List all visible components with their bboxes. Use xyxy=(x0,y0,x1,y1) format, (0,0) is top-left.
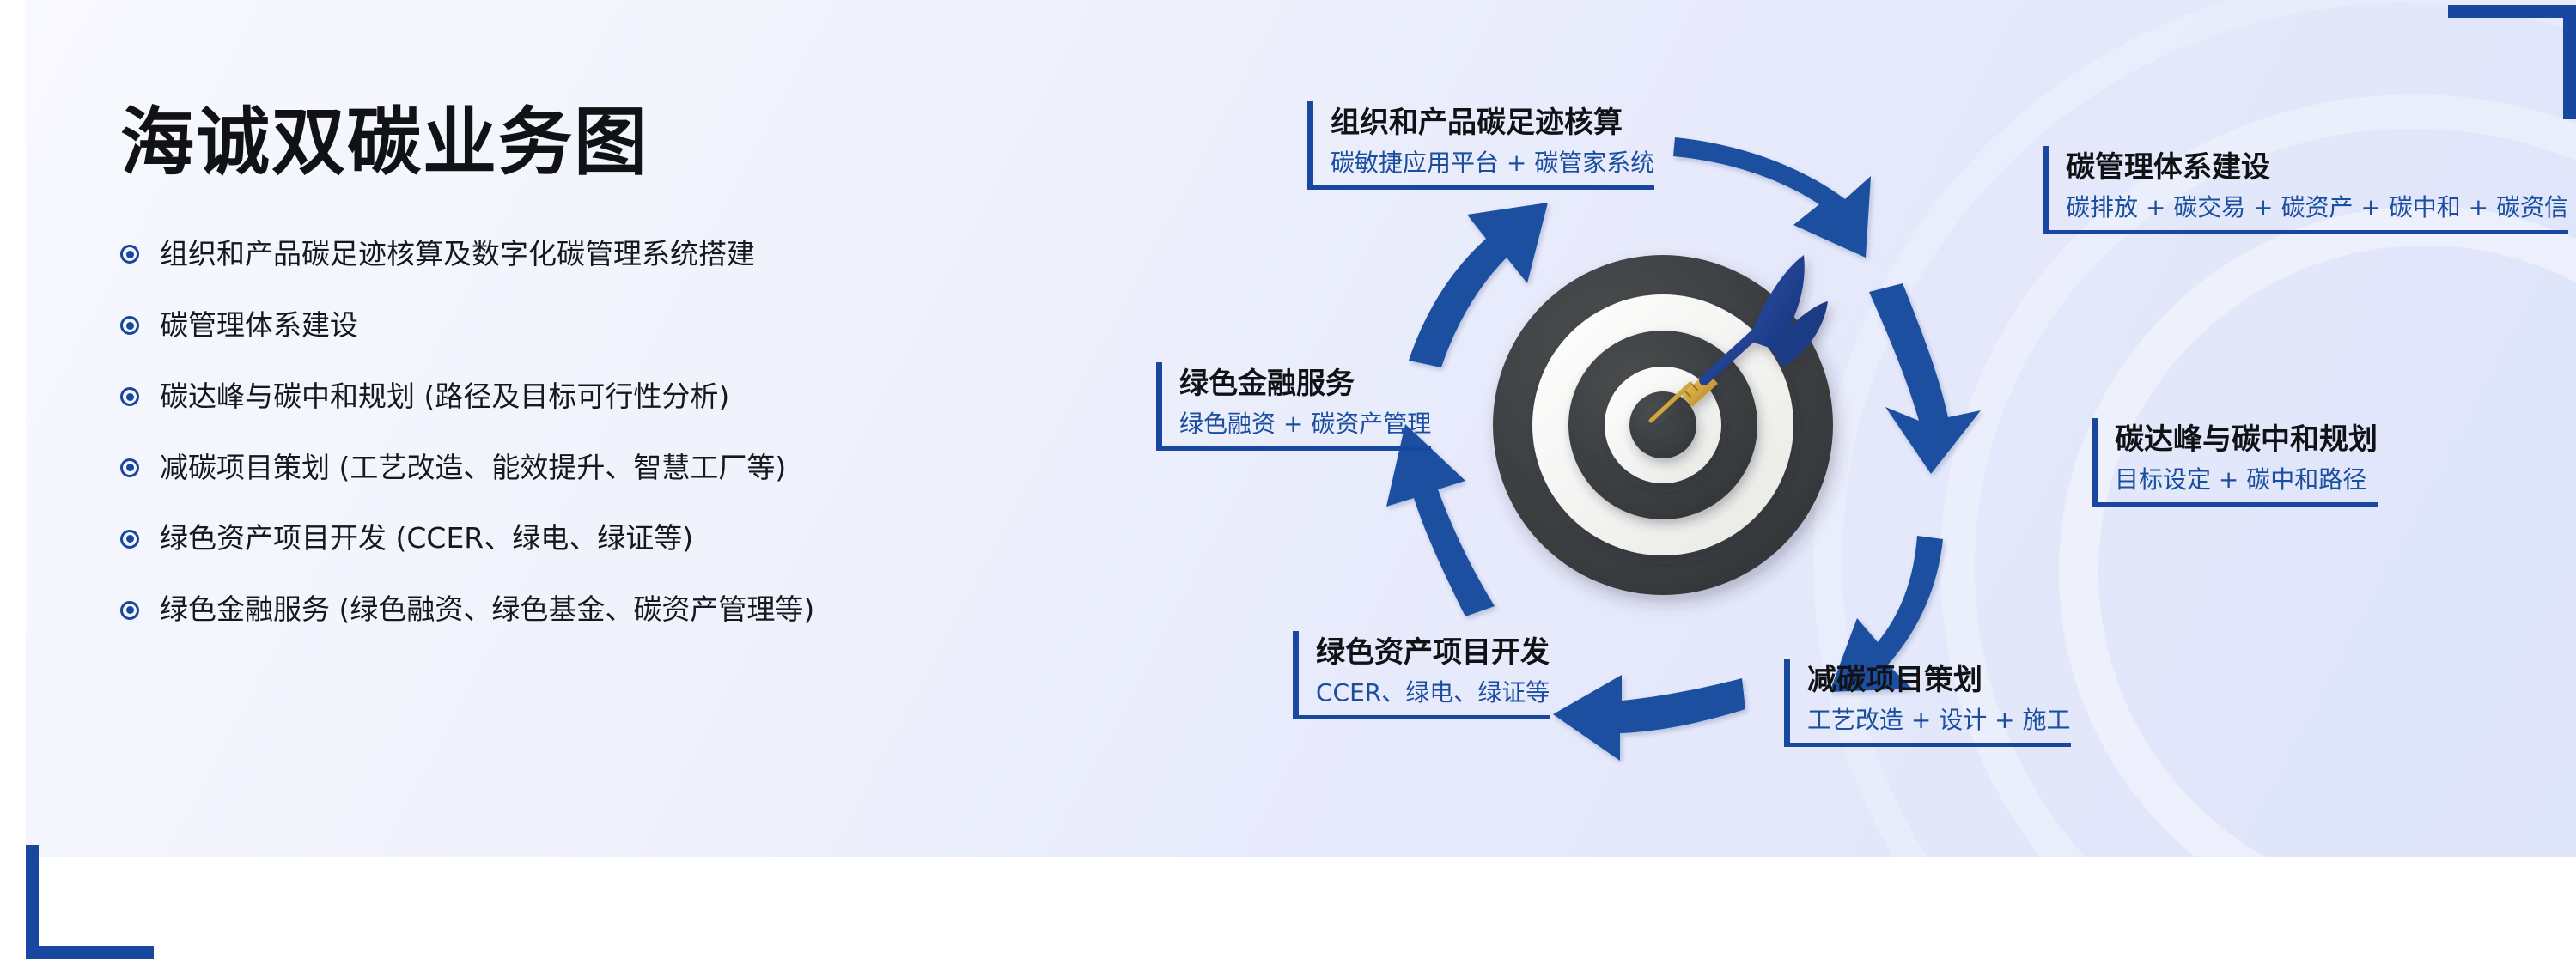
node-carbon-footprint[interactable]: 组织和产品碳足迹核算 碳敏捷应用平台 + 碳管家系统 xyxy=(1307,101,1654,190)
bullet-dot-icon xyxy=(120,387,139,406)
page-title: 海诚双碳业务图 xyxy=(120,103,1108,183)
node-title: 碳管理体系建设 xyxy=(2066,149,2568,186)
node-subtitle: 目标设定 + 碳中和路径 xyxy=(2115,464,2378,495)
bullet-dot-icon xyxy=(120,316,139,335)
node-title: 组织和产品碳足迹核算 xyxy=(1331,105,1654,142)
bullet-dot-icon xyxy=(120,245,139,264)
list-item-label: 绿色资产项目开发 (CCER、绿电、绿证等) xyxy=(160,520,693,557)
list-item: 组织和产品碳足迹核算及数字化碳管理系统搭建 xyxy=(120,236,1108,273)
corner-bracket-bottom-left xyxy=(26,845,154,959)
list-item: 减碳项目策划 (工艺改造、能效提升、智慧工厂等) xyxy=(120,450,1108,487)
node-title: 绿色金融服务 xyxy=(1179,366,1431,403)
list-item-label: 减碳项目策划 (工艺改造、能效提升、智慧工厂等) xyxy=(160,450,786,487)
bullet-dot-icon xyxy=(120,458,139,477)
node-subtitle: 绿色融资 + 碳资产管理 xyxy=(1179,409,1431,440)
list-item-label: 组织和产品碳足迹核算及数字化碳管理系统搭建 xyxy=(160,236,755,273)
node-peak-neutrality-planning[interactable]: 碳达峰与碳中和规划 目标设定 + 碳中和路径 xyxy=(2092,418,2378,507)
list-item: 绿色资产项目开发 (CCER、绿电、绿证等) xyxy=(120,520,1108,557)
list-item: 碳管理体系建设 xyxy=(120,307,1108,344)
service-bullet-list: 组织和产品碳足迹核算及数字化碳管理系统搭建 碳管理体系建设 碳达峰与碳中和规划 … xyxy=(120,236,1108,628)
node-green-finance-service[interactable]: 绿色金融服务 绿色融资 + 碳资产管理 xyxy=(1156,362,1431,451)
list-item-label: 碳达峰与碳中和规划 (路径及目标可行性分析) xyxy=(160,379,729,416)
node-carbon-management-system[interactable]: 碳管理体系建设 碳排放 + 碳交易 + 碳资产 + 碳中和 + 碳资信 xyxy=(2043,146,2568,234)
node-subtitle: 工艺改造 + 设计 + 施工 xyxy=(1807,705,2071,736)
left-content-panel: 海诚双碳业务图 组织和产品碳足迹核算及数字化碳管理系统搭建 碳管理体系建设 碳达… xyxy=(120,103,1108,628)
node-subtitle: CCER、绿电、绿证等 xyxy=(1316,677,1550,708)
node-title: 碳达峰与碳中和规划 xyxy=(2115,422,2378,458)
list-item: 绿色金融服务 (绿色融资、绿色基金、碳资产管理等) xyxy=(120,592,1108,628)
bullet-dot-icon xyxy=(120,530,139,549)
list-item-label: 碳管理体系建设 xyxy=(160,307,358,344)
arrow-system-to-planning-icon xyxy=(1869,283,1981,474)
node-emission-reduction-project[interactable]: 减碳项目策划 工艺改造 + 设计 + 施工 xyxy=(1784,659,2071,747)
cycle-diagram: 组织和产品碳足迹核算 碳敏捷应用平台 + 碳管家系统 碳管理体系建设 碳排放 +… xyxy=(1125,0,2576,857)
arrow-project-to-asset-icon xyxy=(1553,675,1745,761)
node-title: 减碳项目策划 xyxy=(1807,662,2071,699)
bullet-dot-icon xyxy=(120,601,139,620)
list-item: 碳达峰与碳中和规划 (路径及目标可行性分析) xyxy=(120,379,1108,416)
corner-bracket-top-right xyxy=(2448,5,2576,119)
node-title: 绿色资产项目开发 xyxy=(1316,634,1550,671)
node-green-asset-development[interactable]: 绿色资产项目开发 CCER、绿电、绿证等 xyxy=(1293,631,1550,719)
node-subtitle: 碳排放 + 碳交易 + 碳资产 + 碳中和 + 碳资信 xyxy=(2066,192,2568,223)
list-item-label: 绿色金融服务 (绿色融资、绿色基金、碳资产管理等) xyxy=(160,592,814,628)
dartboard-target-icon xyxy=(1460,219,1873,631)
infographic-card: 海诚双碳业务图 组织和产品碳足迹核算及数字化碳管理系统搭建 碳管理体系建设 碳达… xyxy=(26,0,2576,857)
node-subtitle: 碳敏捷应用平台 + 碳管家系统 xyxy=(1331,148,1654,179)
